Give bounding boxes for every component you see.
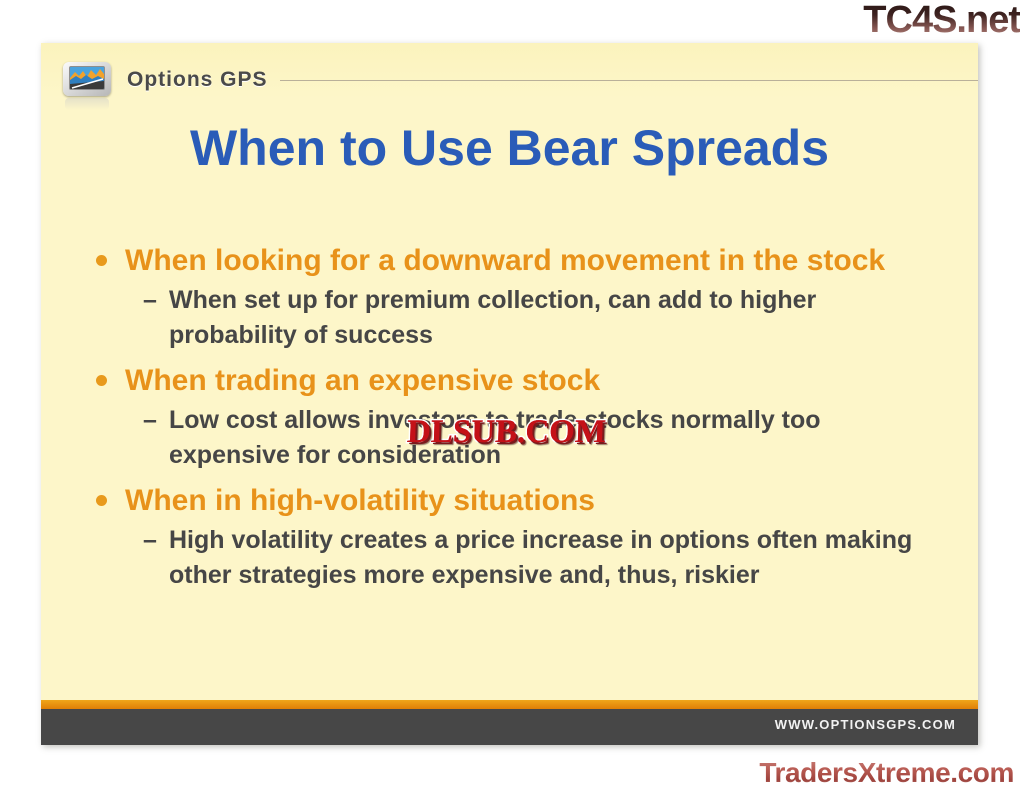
list-item: When in high-volatility situations bbox=[96, 481, 941, 521]
sub-bullet-text: When set up for premium collection, can … bbox=[169, 283, 929, 353]
tc4s-watermark: TC4S.net bbox=[863, 0, 1020, 42]
header-divider bbox=[280, 80, 978, 81]
tradersxtreme-logo: TradersXtreme.com bbox=[759, 757, 1014, 789]
page-title: When to Use Bear Spreads bbox=[41, 119, 978, 177]
bullet-text: When trading an expensive stock bbox=[125, 361, 600, 401]
list-item: When trading an expensive stock bbox=[96, 361, 941, 401]
gps-device-icon bbox=[61, 60, 113, 100]
bullet-text: When looking for a downward movement in … bbox=[125, 241, 885, 281]
accent-bar bbox=[41, 700, 978, 709]
bullet-text: When in high-volatility situations bbox=[125, 481, 595, 521]
bullet-dot-icon bbox=[96, 495, 107, 506]
footer-url: WWW.OPTIONSGPS.COM bbox=[775, 717, 956, 732]
dlsub-watermark-fill: DLSUB.COM bbox=[406, 414, 606, 451]
bullet-dash-icon: – bbox=[143, 523, 169, 558]
presentation-slide: Options GPS When to Use Bear Spreads Whe… bbox=[41, 43, 978, 745]
bullet-dash-icon: – bbox=[143, 283, 169, 318]
bullet-dash-icon: – bbox=[143, 403, 169, 438]
list-item: – When set up for premium collection, ca… bbox=[143, 283, 941, 353]
bullet-dot-icon bbox=[96, 375, 107, 386]
sub-bullet-text: High volatility creates a price increase… bbox=[169, 523, 929, 593]
slide-footer: WWW.OPTIONSGPS.COM bbox=[41, 709, 978, 745]
list-item: When looking for a downward movement in … bbox=[96, 241, 941, 281]
slide-header: Options GPS bbox=[41, 57, 978, 103]
list-item: – High volatility creates a price increa… bbox=[143, 523, 941, 593]
brand-name: Options GPS bbox=[127, 68, 268, 92]
bullet-dot-icon bbox=[96, 255, 107, 266]
